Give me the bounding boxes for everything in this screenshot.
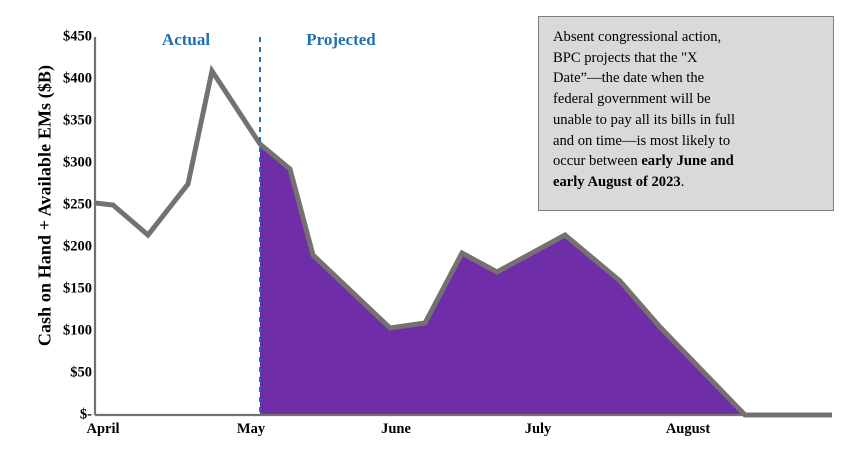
callout-line-3: Date”—the date when the	[553, 70, 704, 86]
callout-line-6: and on time—is most likely to	[553, 133, 730, 149]
callout-line-8-bold: early August of 2023	[553, 174, 681, 190]
callout-line-8-plain: .	[681, 174, 685, 190]
callout-line-4: federal government will be	[553, 91, 711, 107]
callout-line-7-bold: early June and	[641, 153, 733, 169]
callout-line-7-plain: occur between	[553, 153, 641, 169]
callout-line-2: BPC projects that the "X	[553, 50, 698, 66]
callout-line-5: unable to pay all its bills in full	[553, 112, 735, 128]
chart-canvas: Cash on Hand + Available EMs ($B) $450 $…	[0, 0, 841, 450]
callout-line-1: Absent congressional action,	[553, 29, 721, 45]
x-date-annotation-box: Absent congressional action, BPC project…	[538, 16, 834, 211]
